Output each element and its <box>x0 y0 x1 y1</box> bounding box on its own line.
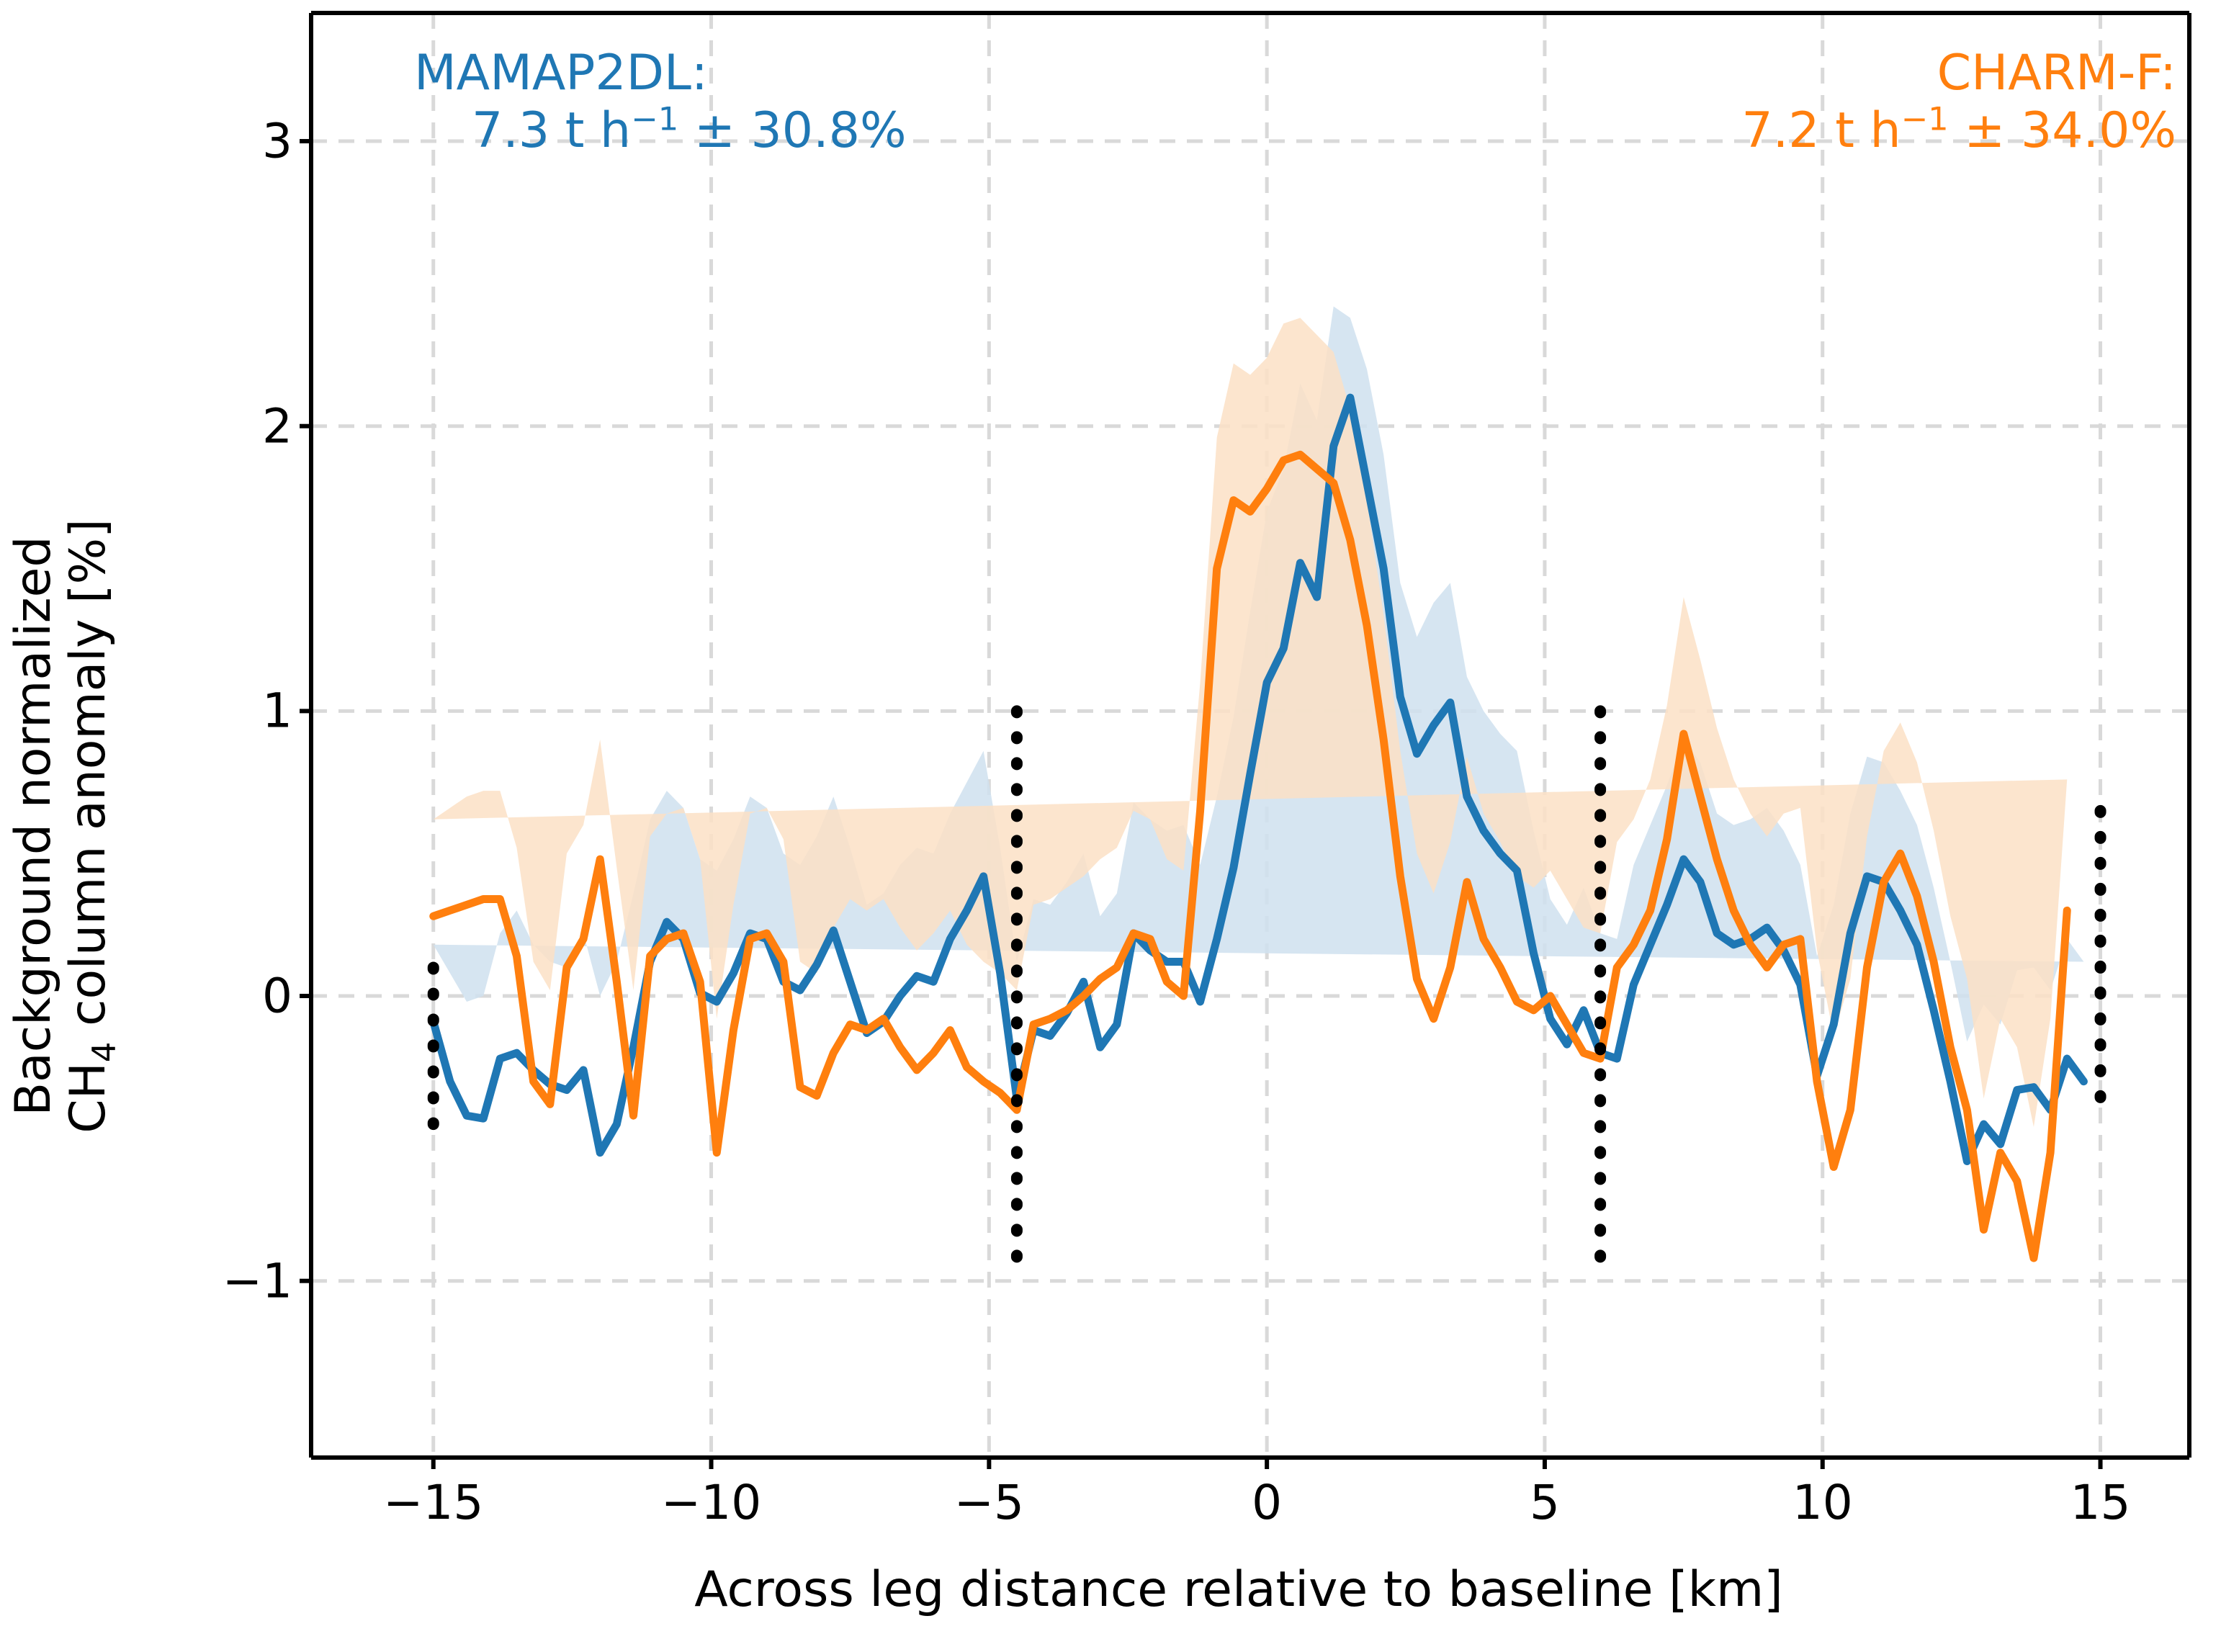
x-tick-label: −10 <box>661 1475 761 1530</box>
y-axis-label-subscript: 4 <box>85 1042 123 1063</box>
mamap2dl-plusminus: ± <box>694 102 735 159</box>
y-axis-label-line1: Background normalized <box>5 536 62 1115</box>
x-tick-label: 5 <box>1530 1475 1560 1530</box>
x-tick-label: 10 <box>1792 1475 1853 1530</box>
y-axis-label-line2-pre: CH <box>60 1062 117 1133</box>
y-tick-label: −1 <box>223 1253 292 1308</box>
x-tick-label: 15 <box>2070 1475 2131 1530</box>
y-tick-label: 0 <box>262 969 292 1024</box>
charmf-flux-value: 7.2 <box>1741 102 1819 159</box>
charmf-annotation-line2: 7.2 t h−1 ± 34.0% <box>1741 102 2176 160</box>
plot-canvas <box>0 0 2221 1652</box>
y-axis-label: Background normalized CH4 column anomaly… <box>0 0 122 1652</box>
mamap2dl-flux-exponent: −1 <box>631 100 678 138</box>
mamap2dl-annotation: MAMAP2DL: 7.3 t h−1 ± 30.8% <box>414 45 907 160</box>
charmf-annotation-line1: CHARM-F: <box>1937 45 2176 102</box>
charmf-flux-unit: t h <box>1835 102 1901 159</box>
y-tick-label: 2 <box>262 398 292 454</box>
mamap2dl-uncertainty: 30.8% <box>751 102 907 159</box>
x-tick-label: −5 <box>954 1475 1024 1530</box>
mamap2dl-annotation-line2: 7.3 t h−1 ± 30.8% <box>414 102 907 160</box>
x-tick-label: −15 <box>383 1475 483 1530</box>
mamap2dl-flux-unit: t h <box>565 102 631 159</box>
x-axis-label: Across leg distance relative to baseline… <box>302 1561 2175 1618</box>
y-tick-label: 3 <box>262 114 292 169</box>
mamap2dl-annotation-line1: MAMAP2DL: <box>414 45 708 102</box>
y-tick-label: 1 <box>262 683 292 739</box>
mamap2dl-flux-value: 7.3 <box>472 102 549 159</box>
charmf-plusminus: ± <box>1964 102 2005 159</box>
chart-figure: Background normalized CH4 column anomaly… <box>0 0 2221 1652</box>
charmf-uncertainty: 34.0% <box>2021 102 2176 159</box>
y-axis-label-line2-post: column anomaly [%] <box>60 519 117 1041</box>
x-tick-label: 0 <box>1252 1475 1282 1530</box>
charmf-annotation: CHARM-F: 7.2 t h−1 ± 34.0% <box>1741 45 2176 160</box>
charmf-flux-exponent: −1 <box>1901 100 1949 138</box>
